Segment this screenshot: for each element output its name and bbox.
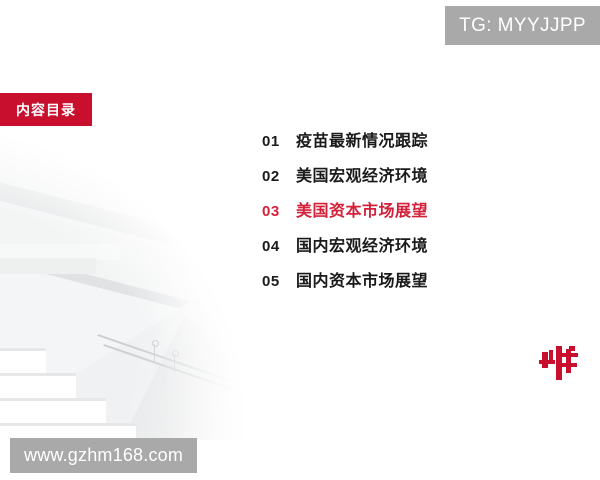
brand-logo-icon xyxy=(538,342,580,384)
toc-item-number: 03 xyxy=(262,204,296,219)
toc-item-label: 国内资本市场展望 xyxy=(296,274,428,290)
toc-item-label: 国内宏观经济环境 xyxy=(296,239,428,255)
photo-shape-rail-post-2 xyxy=(174,354,175,372)
photo-shape-rail-post-1 xyxy=(154,344,155,362)
photo-shape-step-1 xyxy=(0,351,46,373)
photo-shape-step-2 xyxy=(0,376,76,398)
toc-item-03[interactable]: 03 美国资本市场展望 xyxy=(262,204,512,239)
photo-shape-step-3 xyxy=(0,401,106,423)
watermark-bottom-left-text: www.gzhm168.com xyxy=(24,445,183,466)
section-banner-label: 内容目录 xyxy=(16,103,76,117)
toc-item-label: 美国宏观经济环境 xyxy=(296,169,428,185)
watermark-top-right-text: TG: MYYJJPP xyxy=(459,15,586,37)
toc-item-04[interactable]: 04 国内宏观经济环境 xyxy=(262,239,512,274)
toc-item-number: 01 xyxy=(262,134,296,149)
toc-item-number: 05 xyxy=(262,274,296,289)
table-of-contents: 01 疫苗最新情况跟踪 02 美国宏观经济环境 03 美国资本市场展望 04 国… xyxy=(262,134,512,309)
toc-item-02[interactable]: 02 美国宏观经济环境 xyxy=(262,169,512,204)
toc-item-number: 04 xyxy=(262,239,296,254)
watermark-top-right: TG: MYYJJPP xyxy=(445,6,600,45)
toc-item-label: 美国资本市场展望 xyxy=(296,204,428,220)
toc-item-01[interactable]: 01 疫苗最新情况跟踪 xyxy=(262,134,512,169)
toc-item-label: 疫苗最新情况跟踪 xyxy=(296,134,428,150)
slide-canvas: 内容目录 01 疫苗最新情况跟踪 02 美国宏观经济环境 03 美国资本市场展望… xyxy=(0,0,600,480)
section-banner: 内容目录 xyxy=(0,93,92,126)
toc-item-05[interactable]: 05 国内资本市场展望 xyxy=(262,274,512,309)
toc-item-number: 02 xyxy=(262,169,296,184)
watermark-bottom-left: www.gzhm168.com xyxy=(10,438,197,473)
